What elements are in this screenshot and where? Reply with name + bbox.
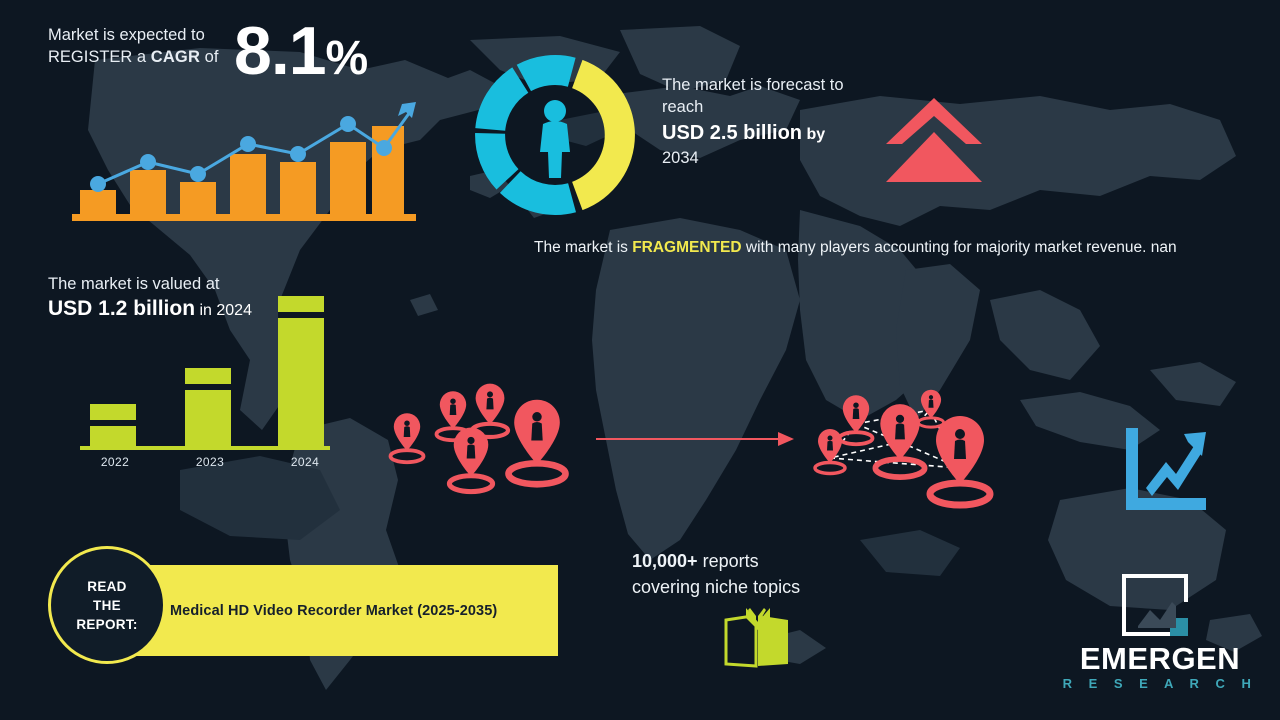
location-pin-small-1 xyxy=(391,413,424,462)
forecast-line2: reach xyxy=(662,96,892,118)
cta-line3: REPORT: xyxy=(76,617,137,632)
location-pin-medium xyxy=(449,428,492,492)
read-report-label: READ THE REPORT: xyxy=(76,577,137,634)
network-pin-1 xyxy=(840,395,873,444)
network-pin-2 xyxy=(918,390,943,427)
transition-arrow-icon xyxy=(596,428,796,450)
logo-mark-icon xyxy=(1120,572,1190,638)
fragmented-post: with many players accounting for majorit… xyxy=(742,239,1177,256)
cagr-value: 8.1% xyxy=(234,12,367,90)
cagr-line2-post: of xyxy=(200,48,218,66)
donut-slice-leading xyxy=(572,60,635,210)
historic-year-label-2023: 2023 xyxy=(180,455,240,469)
historic-year-label-2024: 2024 xyxy=(275,455,335,469)
growth-bar-last xyxy=(372,126,404,214)
forecast-block: The market is forecast to reach USD 2.5 … xyxy=(662,74,892,169)
donut-slice-a xyxy=(517,55,576,91)
infographic-canvas: Market is expected to REGISTER a CAGR of… xyxy=(0,0,1280,720)
emergen-research-logo: EMERGEN R E S E A R C H xyxy=(1062,572,1258,704)
report-banner[interactable]: Medical HD Video Recorder Market (2025-2… xyxy=(105,565,558,656)
fragmented-statement: The market is FRAGMENTED with many playe… xyxy=(534,237,1206,259)
read-the-report-button[interactable]: READ THE REPORT: xyxy=(48,546,166,664)
donut-slice-d xyxy=(500,171,576,215)
historic-value-chart xyxy=(80,296,330,452)
cagr-line1: Market is expected to xyxy=(48,26,205,44)
chart-baseline xyxy=(72,214,416,221)
network-pin-5 xyxy=(930,416,990,505)
network-pin-3 xyxy=(815,429,845,474)
forecast-year: 2034 xyxy=(662,147,892,169)
logo-subtitle: R E S E A R C H xyxy=(1062,676,1258,691)
forecast-value: USD 2.5 billion xyxy=(662,122,802,144)
market-share-donut xyxy=(472,52,638,218)
location-pin-large xyxy=(509,400,566,485)
report-title: Medical HD Video Recorder Market (2025-2… xyxy=(170,603,497,619)
historic-bar-2023 xyxy=(185,368,231,446)
cagr-keyword: CAGR xyxy=(151,48,200,66)
cta-line2: THE xyxy=(93,598,121,613)
up-chevrons-icon xyxy=(886,96,982,184)
cta-line1: READ xyxy=(87,579,126,594)
growth-chart-icon xyxy=(1122,428,1206,512)
growth-trend-bars xyxy=(80,142,402,214)
historic-chart-baseline xyxy=(80,446,330,450)
reports-line1: 10,000+ reports xyxy=(632,548,892,574)
cagr-line2-pre: REGISTER a xyxy=(48,48,151,66)
growth-trend-chart xyxy=(72,86,416,222)
historic-bar-2022 xyxy=(90,404,136,446)
open-book-icon xyxy=(722,608,792,670)
historic-bar-2024 xyxy=(278,296,324,446)
reports-line2: covering niche topics xyxy=(632,574,892,600)
fragmented-pre: The market is xyxy=(534,239,632,256)
cagr-label: Market is expected to REGISTER a CAGR of xyxy=(48,24,218,68)
reports-count: 10,000+ xyxy=(632,551,698,571)
reports-count-block: 10,000+ reports covering niche topics xyxy=(632,548,892,600)
valuation-line1: The market is valued at xyxy=(48,273,348,295)
cagr-percent-sign: % xyxy=(326,32,368,85)
donut-slice-b xyxy=(475,67,528,130)
logo-name: EMERGEN xyxy=(1062,642,1258,676)
cagr-number: 8.1 xyxy=(234,13,326,89)
forecast-value-row: USD 2.5 billion by xyxy=(662,121,892,147)
network-pin-4 xyxy=(875,404,924,477)
forecast-line1: The market is forecast to xyxy=(662,74,892,96)
historic-year-label-2022: 2022 xyxy=(85,455,145,469)
reports-line1-rest: reports xyxy=(698,551,759,571)
person-icon xyxy=(540,100,570,178)
fragmented-highlight: FRAGMENTED xyxy=(632,239,741,256)
connected-pins-network xyxy=(800,388,1010,500)
forecast-by: by xyxy=(802,126,825,143)
scattered-pins-group xyxy=(385,390,575,495)
